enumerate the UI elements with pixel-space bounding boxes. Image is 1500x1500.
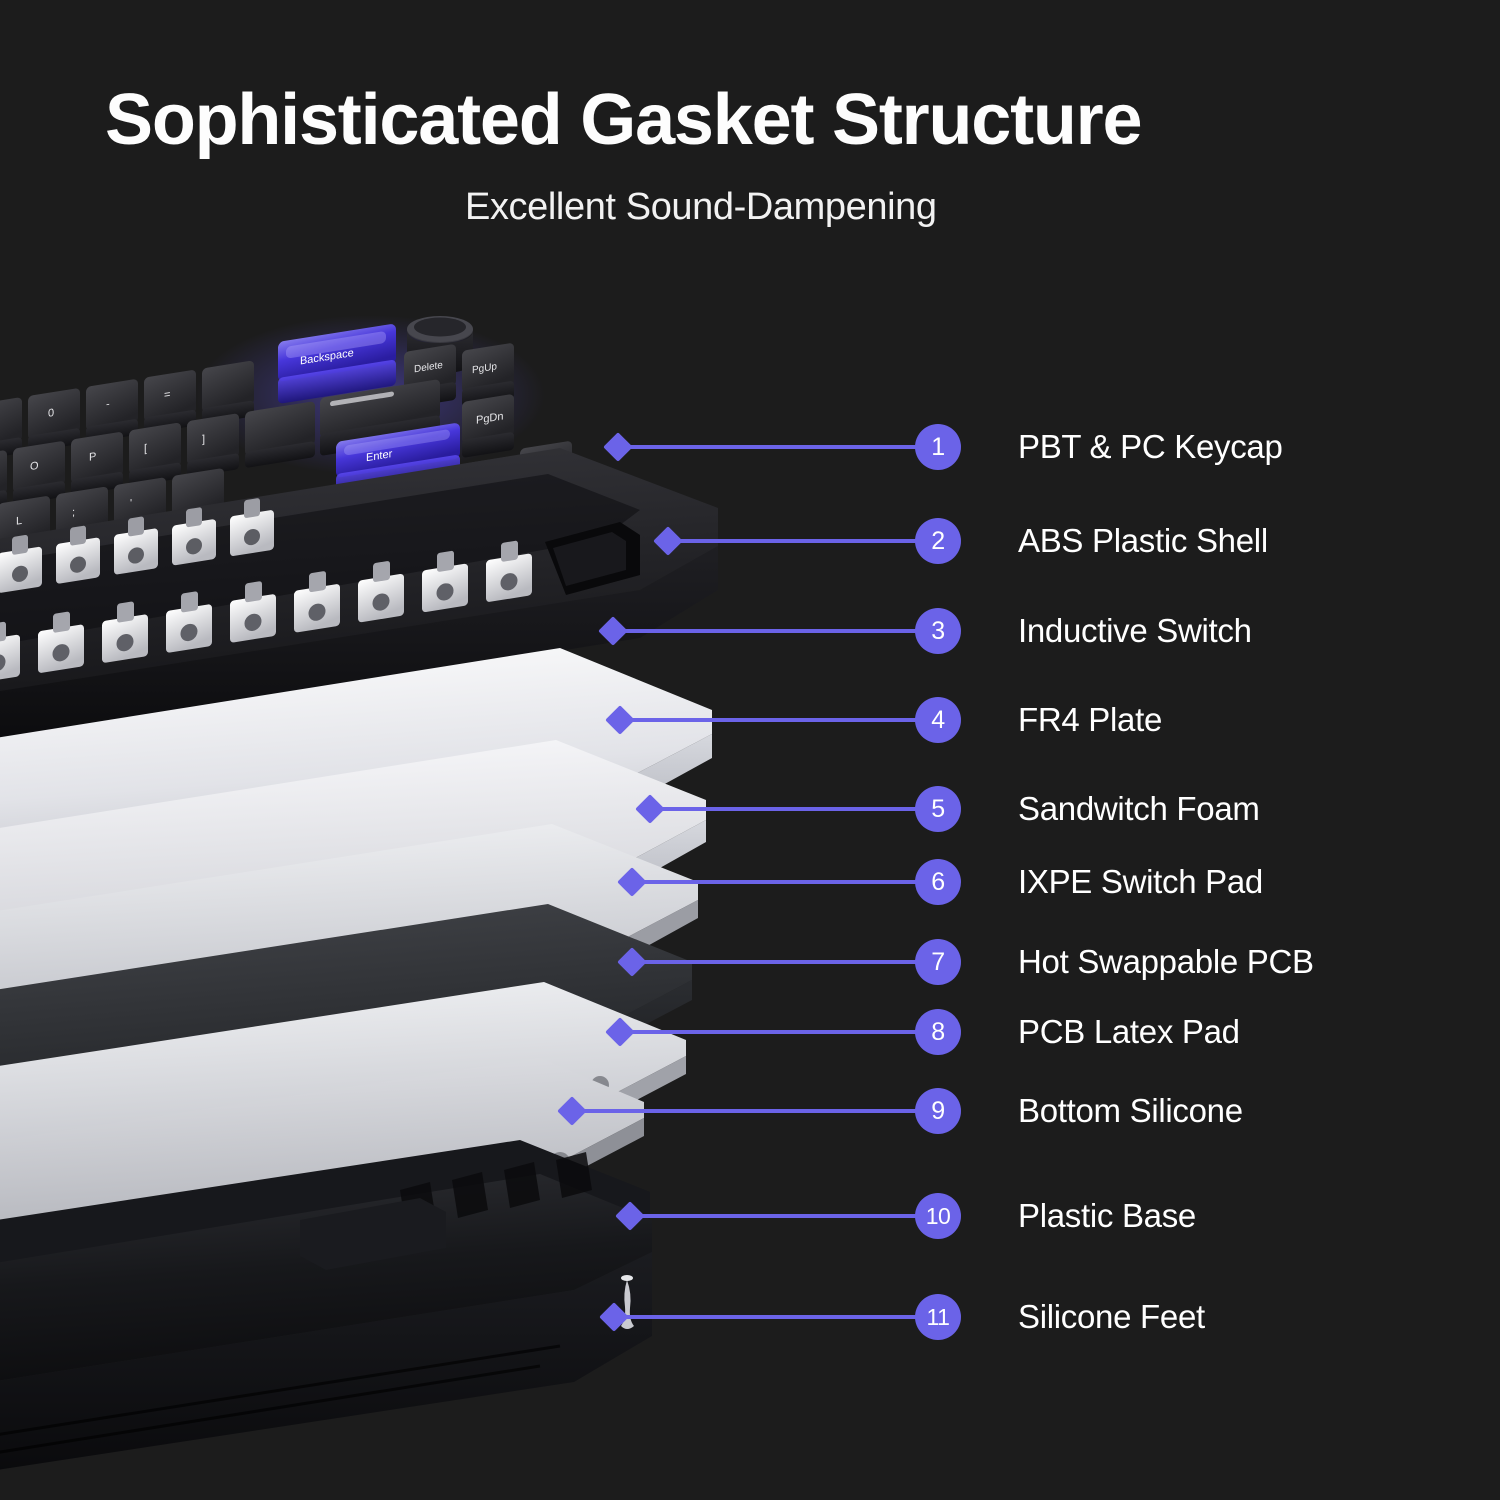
callout-badge-1[interactable]: 1: [915, 424, 961, 470]
callout-label-9: Bottom Silicone: [1018, 1092, 1243, 1130]
callout-diamond-marker-6: [617, 867, 647, 897]
callout-diamond-marker-7: [617, 947, 647, 977]
callout-badge-3[interactable]: 3: [915, 608, 961, 654]
callout-badge-9[interactable]: 9: [915, 1088, 961, 1134]
callout-diamond-marker-10: [615, 1201, 645, 1231]
callout-label-11: Silicone Feet: [1018, 1298, 1205, 1336]
callout-label-5: Sandwitch Foam: [1018, 790, 1260, 828]
callout-leader-line-9: [572, 1109, 930, 1113]
infographic-canvas: Sophisticated Gasket Structure Excellent…: [0, 0, 1500, 1500]
callout-leader-line-7: [632, 960, 930, 964]
callout-diamond-marker-4: [605, 705, 635, 735]
callout-leader-line-3: [613, 629, 930, 633]
callout-badge-10[interactable]: 10: [915, 1193, 961, 1239]
callout-diamond-marker-9: [557, 1096, 587, 1126]
callout-badge-4[interactable]: 4: [915, 697, 961, 743]
callout-label-7: Hot Swappable PCB: [1018, 943, 1314, 981]
callout-leader-line-2: [668, 539, 930, 543]
callout-label-1: PBT & PC Keycap: [1018, 428, 1283, 466]
callout-diamond-marker-11: [599, 1302, 629, 1332]
callout-list: 1PBT & PC Keycap2ABS Plastic Shell3Induc…: [0, 0, 1500, 1500]
callout-leader-line-10: [630, 1214, 930, 1218]
callout-diamond-marker-3: [598, 616, 628, 646]
callout-label-4: FR4 Plate: [1018, 701, 1162, 739]
callout-leader-line-5: [650, 807, 930, 811]
callout-label-10: Plastic Base: [1018, 1197, 1196, 1235]
callout-label-6: IXPE Switch Pad: [1018, 863, 1263, 901]
callout-leader-line-8: [620, 1030, 930, 1034]
callout-diamond-marker-1: [603, 432, 633, 462]
callout-leader-line-4: [620, 718, 930, 722]
callout-badge-11[interactable]: 11: [915, 1294, 961, 1340]
callout-leader-line-11: [614, 1315, 930, 1319]
callout-leader-line-1: [618, 445, 930, 449]
callout-badge-5[interactable]: 5: [915, 786, 961, 832]
callout-leader-line-6: [632, 880, 930, 884]
callout-badge-6[interactable]: 6: [915, 859, 961, 905]
callout-label-3: Inductive Switch: [1018, 612, 1252, 650]
callout-label-8: PCB Latex Pad: [1018, 1013, 1240, 1051]
callout-diamond-marker-5: [635, 794, 665, 824]
callout-badge-7[interactable]: 7: [915, 939, 961, 985]
callout-label-2: ABS Plastic Shell: [1018, 522, 1268, 560]
callout-badge-2[interactable]: 2: [915, 518, 961, 564]
callout-diamond-marker-2: [653, 526, 683, 556]
callout-diamond-marker-8: [605, 1017, 635, 1047]
callout-badge-8[interactable]: 8: [915, 1009, 961, 1055]
